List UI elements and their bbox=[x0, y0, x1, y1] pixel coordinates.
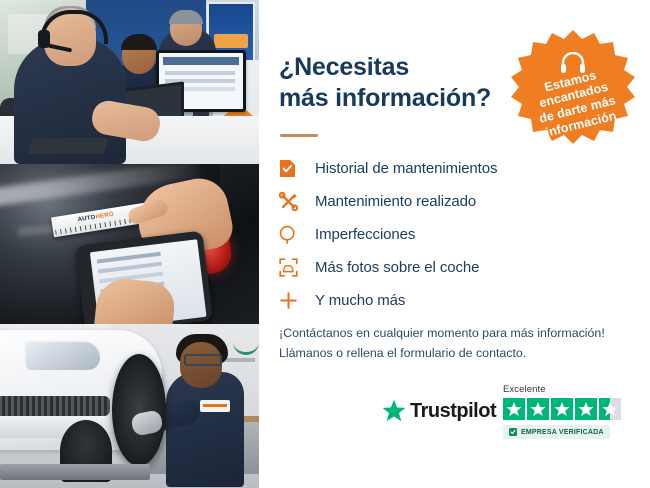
mechanic-tire-inspection-photo bbox=[0, 324, 259, 488]
star-3 bbox=[551, 398, 573, 420]
ruler-brand-auto: AUTO bbox=[77, 215, 96, 224]
star-5-half bbox=[599, 398, 621, 420]
page-title-line-1: ¿Necesitas bbox=[279, 52, 519, 83]
verified-check-icon bbox=[509, 428, 517, 436]
promo-card: AUTOHERO ¿Necesitas más información? bbox=[0, 0, 650, 488]
star-1 bbox=[503, 398, 525, 420]
trustpilot-stars bbox=[503, 398, 621, 420]
page-title: ¿Necesitas más información? bbox=[279, 52, 519, 113]
trustpilot-rating-label: Excelente bbox=[503, 384, 546, 395]
tools-cross-icon bbox=[279, 192, 315, 211]
verified-company-label: EMPRESA VERIFICADA bbox=[521, 429, 604, 436]
feature-label: Historial de mantenimientos bbox=[315, 160, 497, 177]
ruler-brand-hero: HERO bbox=[95, 212, 114, 221]
page-title-line-2: más información? bbox=[279, 83, 519, 114]
verified-company-badge: EMPRESA VERIFICADA bbox=[503, 425, 610, 439]
trustpilot-star-icon bbox=[381, 398, 407, 424]
feature-item-fotos[interactable]: Más fotos sobre el coche bbox=[279, 251, 629, 284]
call-center-agents-photo bbox=[0, 0, 259, 164]
starburst-badge: Estamos encantados de darte más informac… bbox=[507, 26, 639, 158]
contact-line-1: ¡Contáctanos en cualquier momento para m… bbox=[279, 323, 639, 343]
star-2 bbox=[527, 398, 549, 420]
photo-column: AUTOHERO bbox=[0, 0, 259, 488]
star-4 bbox=[575, 398, 597, 420]
feature-item-mas[interactable]: Y mucho más bbox=[279, 284, 629, 317]
feature-item-imperfecciones[interactable]: Imperfecciones bbox=[279, 218, 629, 251]
trustpilot-wordmark: Trustpilot bbox=[410, 400, 496, 423]
feature-label: Más fotos sobre el coche bbox=[315, 259, 479, 276]
plus-icon bbox=[279, 291, 315, 310]
feature-label: Y mucho más bbox=[315, 292, 405, 309]
feature-item-mantenimiento[interactable]: Mantenimiento realizado bbox=[279, 185, 629, 218]
magnifier-icon bbox=[279, 225, 315, 244]
trustpilot-widget[interactable]: Trustpilot Excelente EMPRESA VERIFICADA bbox=[381, 384, 637, 452]
contact-text: ¡Contáctanos en cualquier momento para m… bbox=[279, 323, 639, 363]
document-check-icon bbox=[279, 159, 315, 178]
car-scan-icon bbox=[279, 258, 315, 277]
title-underline-rule bbox=[280, 134, 318, 137]
feature-item-historial[interactable]: Historial de mantenimientos bbox=[279, 152, 629, 185]
car-inspection-ruler-tablet-photo: AUTOHERO bbox=[0, 164, 259, 324]
contact-line-2: Llámanos o rellena el formulario de cont… bbox=[279, 343, 639, 363]
content-panel: ¿Necesitas más información? Estamos enca… bbox=[259, 0, 650, 488]
feature-label: Mantenimiento realizado bbox=[315, 193, 476, 210]
trustpilot-logo[interactable]: Trustpilot bbox=[381, 398, 496, 424]
feature-list: Historial de mantenimientos Mantenimient… bbox=[279, 152, 629, 317]
feature-label: Imperfecciones bbox=[315, 226, 415, 243]
